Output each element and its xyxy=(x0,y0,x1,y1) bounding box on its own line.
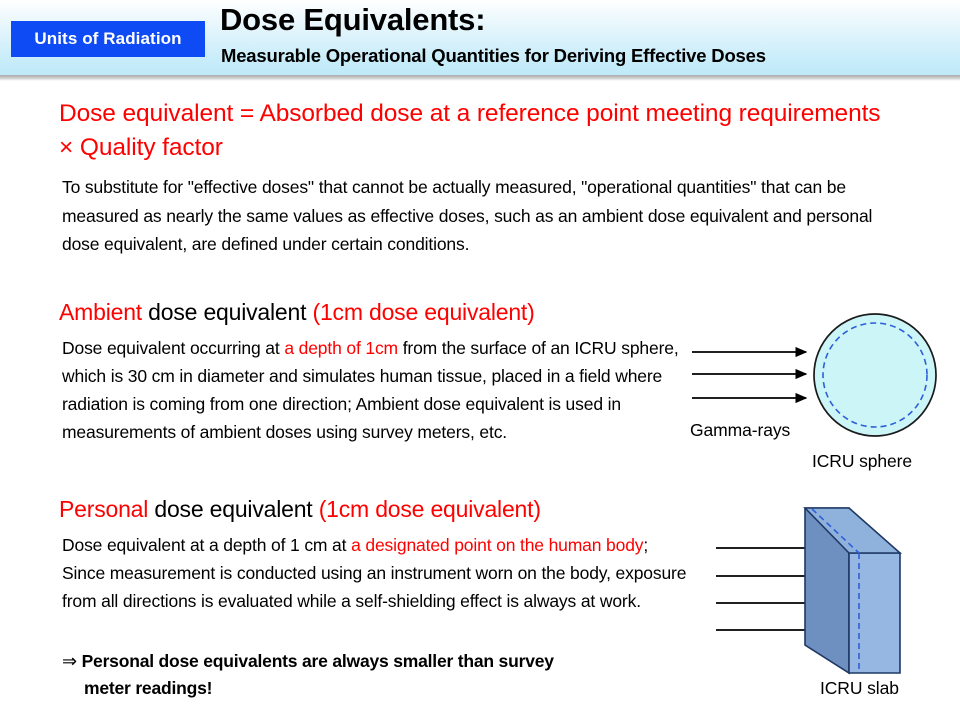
intro-paragraph: To substitute for "effective doses" that… xyxy=(62,173,878,259)
personal-heading-parenthetical: (1cm dose equivalent) xyxy=(319,496,541,522)
icru-slab-label: ICRU slab xyxy=(820,678,899,699)
conclusion-statement: ⇒ Personal dose equivalents are always s… xyxy=(62,648,692,702)
page-subtitle: Measurable Operational Quantities for De… xyxy=(221,44,766,68)
ambient-dose-paragraph: Dose equivalent occurring at a depth of … xyxy=(62,334,688,446)
personal-dose-paragraph: Dose equivalent at a depth of 1 cm at a … xyxy=(62,531,688,615)
conclusion-line-1: Personal dose equivalents are always sma… xyxy=(82,651,554,671)
icru-sphere-label: ICRU sphere xyxy=(812,451,912,472)
section-badge: Units of Radiation xyxy=(11,21,205,57)
personal-para-highlight: a designated point on the human body xyxy=(351,535,643,555)
ambient-dose-heading: Ambient dose equivalent (1cm dose equiva… xyxy=(59,297,535,327)
conclusion-line-2: meter readings! xyxy=(62,675,692,702)
ambient-heading-keyword: Ambient xyxy=(59,299,142,325)
personal-heading-keyword: Personal xyxy=(59,496,148,522)
header-shadow-divider xyxy=(0,75,960,81)
icru-slab-side-face xyxy=(849,553,900,673)
ambient-heading-middle: dose equivalent xyxy=(142,299,313,325)
ambient-para-part1: Dose equivalent occurring at xyxy=(62,338,284,358)
personal-para-part1: Dose equivalent at a depth of 1 cm at xyxy=(62,535,351,555)
section-badge-label: Units of Radiation xyxy=(34,29,181,49)
ambient-para-highlight: a depth of 1cm xyxy=(284,338,398,358)
page-title: Dose Equivalents: xyxy=(220,2,485,38)
gamma-rays-label: Gamma-rays xyxy=(690,420,790,441)
personal-dose-heading: Personal dose equivalent (1cm dose equiv… xyxy=(59,494,541,524)
implies-arrow-icon: ⇒ xyxy=(62,651,77,671)
ambient-heading-parenthetical: (1cm dose equivalent) xyxy=(313,299,535,325)
icru-sphere-outer-circle xyxy=(814,314,936,436)
dose-equivalent-formula: Dose equivalent = Absorbed dose at a ref… xyxy=(59,97,889,165)
gamma-ray-arrows xyxy=(692,352,806,398)
personal-heading-middle: dose equivalent xyxy=(148,496,319,522)
